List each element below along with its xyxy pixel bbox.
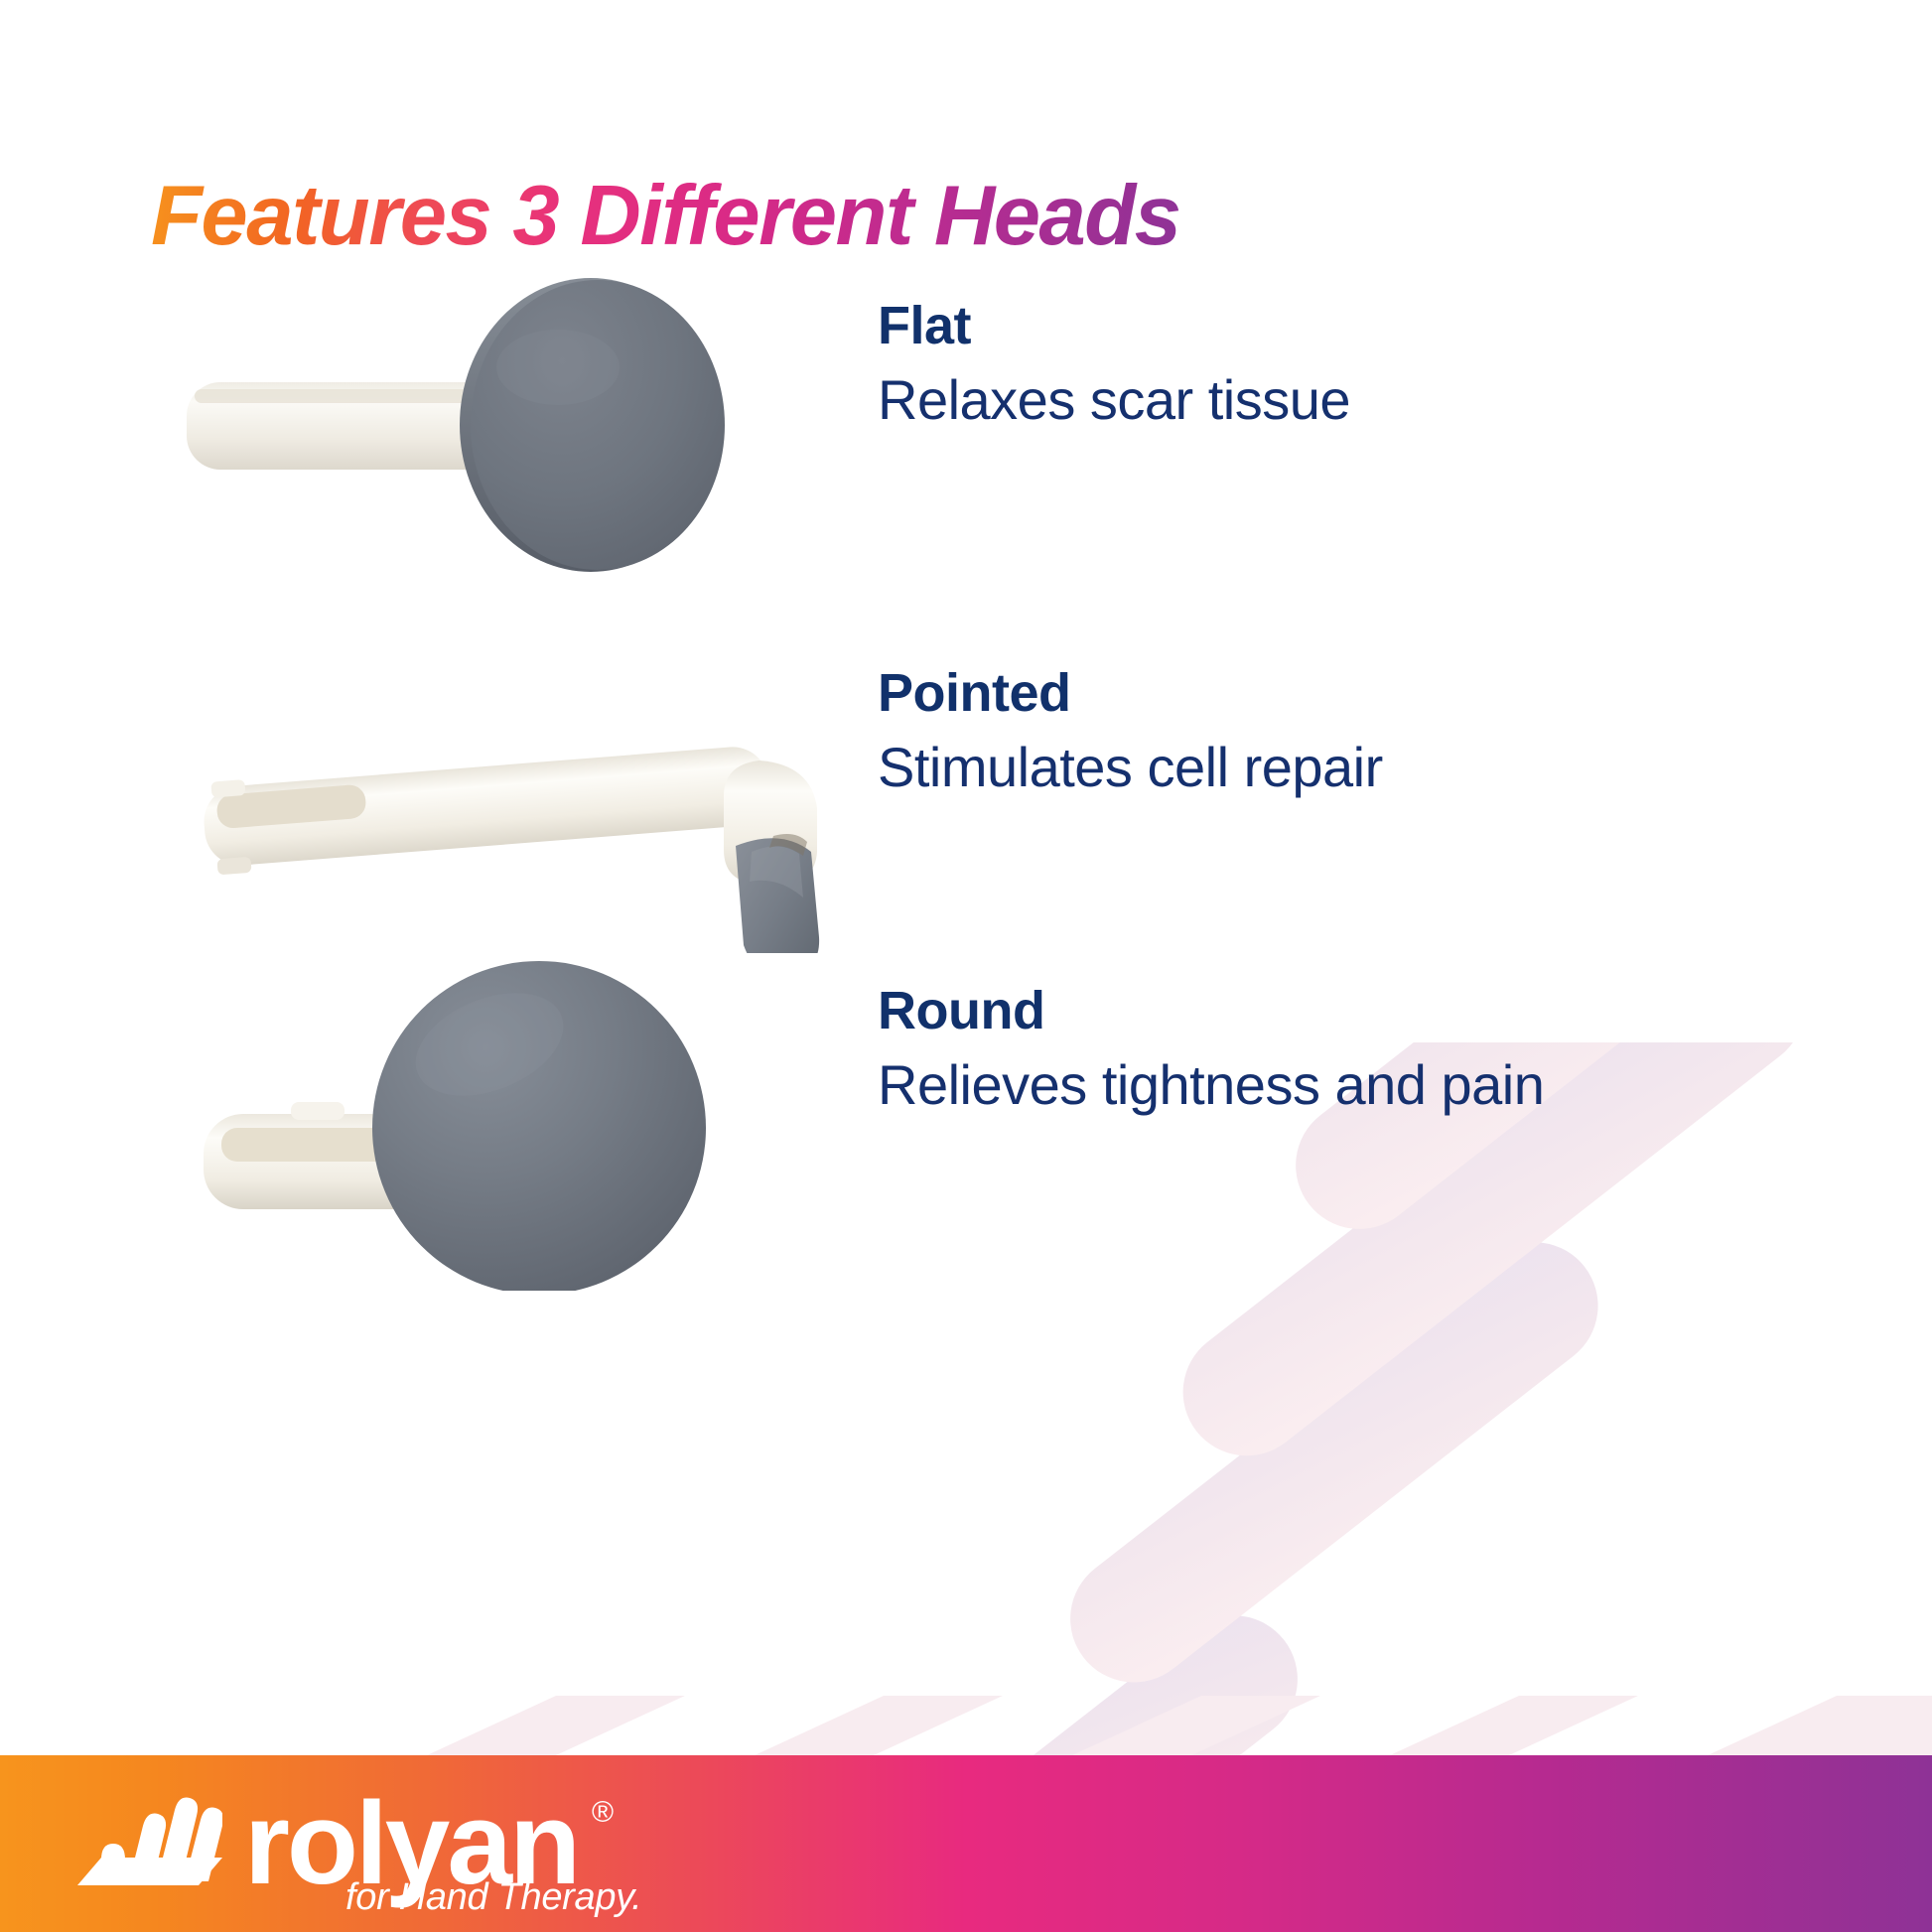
footer-decorative-stripes: [0, 1696, 1932, 1755]
infographic-page: Features 3 Different Heads: [0, 0, 1932, 1932]
rolyan-hand-logo-icon: [75, 1796, 222, 1891]
feature-description-pointed: Stimulates cell repair: [878, 736, 1751, 800]
feature-title-flat: Flat: [878, 298, 1692, 354]
pointed-head-attachment-icon: [174, 695, 869, 953]
feature-description-round: Relieves tightness and pain: [878, 1053, 1751, 1118]
feature-description-flat: Relaxes scar tissue: [878, 368, 1692, 433]
brand-footer: rolyan ® for Hand Therapy.: [0, 1755, 1932, 1932]
feature-title-pointed: Pointed: [878, 665, 1751, 722]
brand-tagline: for Hand Therapy.: [345, 1876, 641, 1919]
registered-trademark-icon: ®: [592, 1796, 614, 1830]
feature-text-flat: Flat Relaxes scar tissue: [878, 298, 1692, 433]
round-head-attachment-icon: [174, 953, 789, 1291]
feature-text-round: Round Relieves tightness and pain: [878, 983, 1751, 1118]
feature-title-round: Round: [878, 983, 1751, 1039]
page-title: Features 3 Different Heads: [151, 168, 1180, 265]
flat-head-attachment-icon: [149, 268, 884, 625]
feature-text-pointed: Pointed Stimulates cell repair: [878, 665, 1751, 800]
